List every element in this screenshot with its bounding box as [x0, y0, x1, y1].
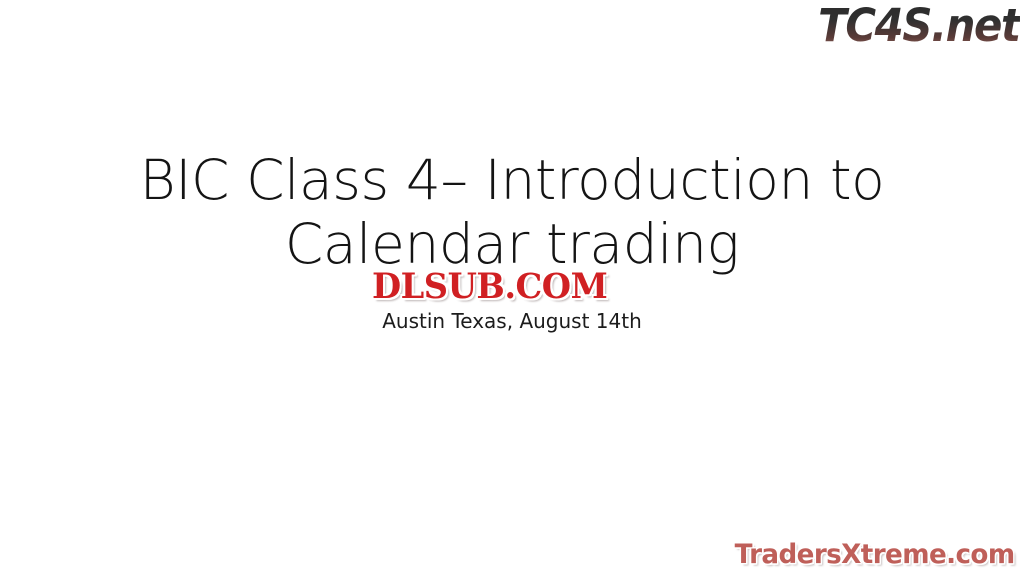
slide-subtitle: Austin Texas, August 14th	[0, 308, 1024, 334]
watermark-dlsub: DLSUB.COM	[372, 268, 607, 306]
watermark-tc4s: TC4S.net	[819, 0, 1020, 52]
slide-title: BIC Class 4– Introduction to Calendar tr…	[0, 148, 1024, 276]
slide-title-line-1: BIC Class 4– Introduction to	[0, 148, 1024, 212]
presentation-slide: TC4S.net BIC Class 4– Introduction to Ca…	[0, 0, 1024, 576]
watermark-tradersxtreme: TradersXtreme.com	[735, 540, 1015, 570]
